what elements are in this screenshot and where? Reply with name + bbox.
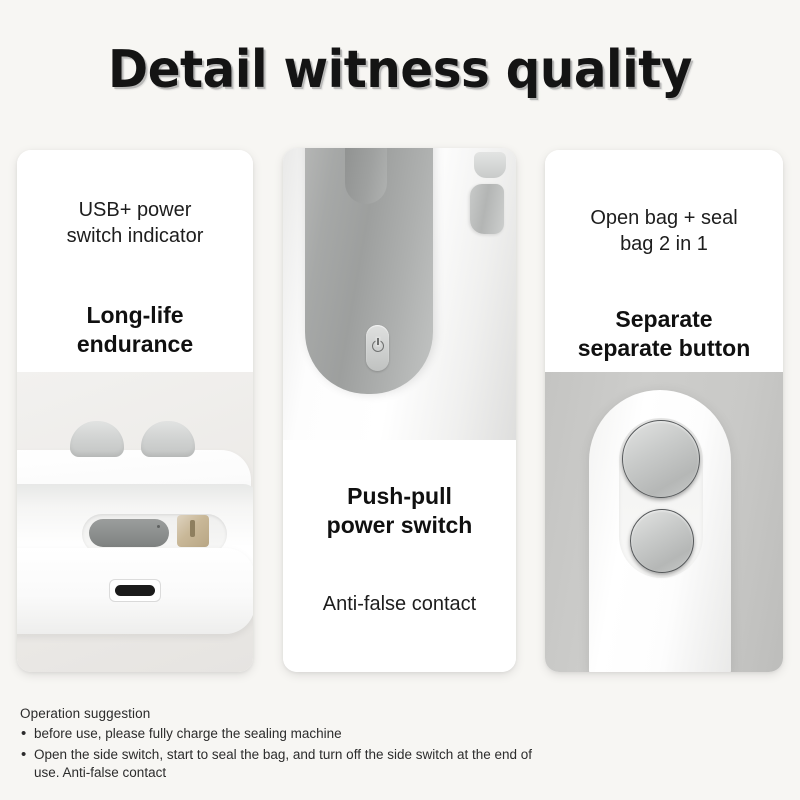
card1-subtitle: USB+ power switch indicator (27, 198, 243, 249)
list-item: Open the side switch, start to seal the … (20, 746, 540, 782)
round-button-top (622, 420, 700, 498)
footer-list: before use, please fully charge the seal… (20, 725, 540, 783)
card1-text-block: USB+ power switch indicator Long-life en… (17, 150, 253, 372)
device-slider-knob (89, 519, 169, 547)
card2-product-photo (283, 148, 516, 440)
device-knob-right (141, 421, 195, 457)
card2-heading-line2: power switch (327, 512, 473, 538)
footer-title: Operation suggestion (20, 706, 540, 721)
card3-heading: Separate separate button (555, 305, 773, 363)
product-feature-infographic: Detail witness quality USB+ power switch… (0, 0, 800, 800)
card2-text-block: Push-pull power switch Anti-false contac… (283, 440, 516, 672)
list-item: before use, please fully charge the seal… (20, 725, 540, 743)
card1-heading: Long-life endurance (27, 301, 243, 359)
card3-subtitle: Open bag + seal bag 2 in 1 (555, 206, 773, 257)
page-title: Detail witness quality (28, 40, 772, 100)
card-separate-button: Open bag + seal bag 2 in 1 Separate sepa… (545, 150, 783, 672)
card2-subtitle: Anti-false contact (293, 592, 506, 618)
card1-subtitle-line1: USB+ power (79, 199, 192, 221)
card3-product-photo (545, 372, 783, 672)
device-grey-notch (345, 148, 387, 204)
round-button-bottom (630, 509, 694, 573)
device-knob-left (70, 421, 124, 457)
power-icon (372, 340, 384, 352)
device-gold-contact (177, 515, 209, 547)
card1-heading-line1: Long-life (86, 302, 183, 328)
card2-heading-line1: Push-pull (347, 483, 452, 509)
card3-subtitle-line2: bag 2 in 1 (620, 233, 708, 255)
card-usb-power: USB+ power switch indicator Long-life en… (17, 150, 253, 672)
device-side-tab-top (474, 152, 506, 178)
card3-heading-line2: separate button (578, 335, 751, 361)
usb-c-port-icon (110, 580, 160, 601)
card3-subtitle-line1: Open bag + seal (590, 207, 737, 229)
device-side-tab (470, 184, 504, 234)
card3-text-block: Open bag + seal bag 2 in 1 Separate sepa… (545, 150, 783, 372)
card1-subtitle-line2: switch indicator (67, 225, 204, 247)
card1-product-photo (17, 372, 253, 672)
card3-heading-line1: Separate (615, 306, 712, 332)
operation-suggestion: Operation suggestion before use, please … (20, 706, 540, 783)
card-push-pull: Push-pull power switch Anti-false contac… (283, 148, 516, 672)
power-switch-button (366, 325, 389, 371)
card2-heading: Push-pull power switch (293, 482, 506, 540)
card1-heading-line2: endurance (77, 331, 193, 357)
